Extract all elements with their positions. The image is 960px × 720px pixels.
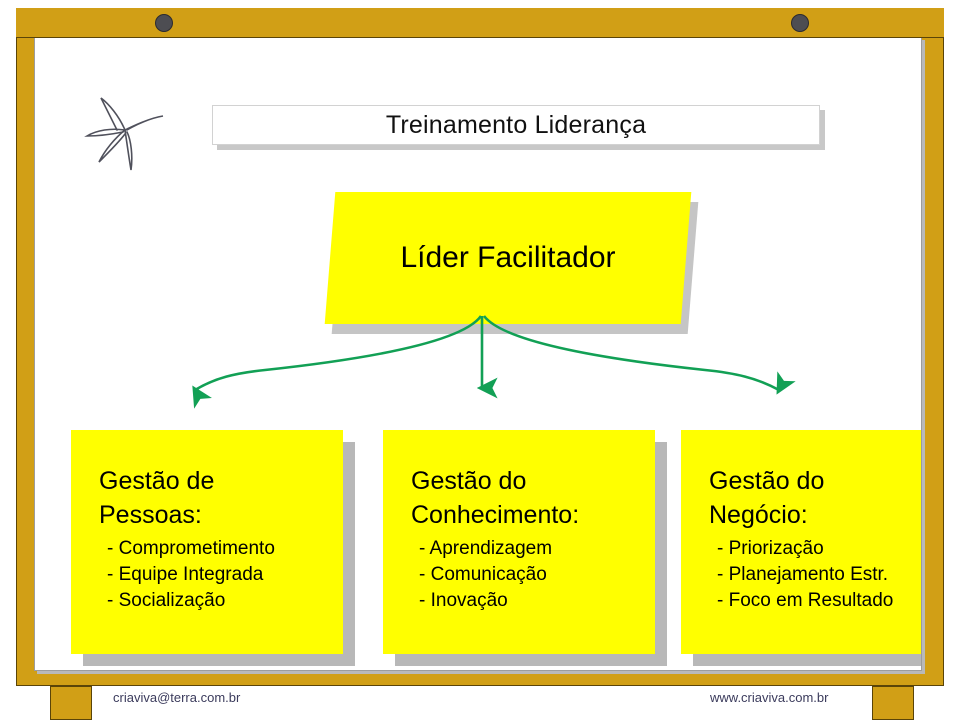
branch-note-3-content: Gestão do Negócio: - Priorização - Plane… bbox=[681, 430, 922, 654]
branch-note-2-content: Gestão do Conhecimento: - Aprendizagem -… bbox=[383, 430, 655, 654]
page-title: Treinamento Liderança bbox=[386, 111, 646, 140]
whiteboard-leg-left bbox=[50, 686, 92, 720]
branch-note-2-heading: Gestão do Conhecimento: bbox=[411, 464, 645, 532]
branch-note-1-items: - Comprometimento - Equipe Integrada - S… bbox=[99, 536, 333, 614]
branch-note-1-content: Gestão de Pessoas: - Comprometimento - E… bbox=[71, 430, 343, 654]
branch-note-1-heading: Gestão de Pessoas: bbox=[99, 464, 333, 532]
list-item: - Priorização bbox=[709, 536, 922, 562]
criaviva-star-sketch-icon bbox=[79, 86, 171, 178]
whiteboard-leg-right bbox=[872, 686, 914, 720]
list-item: - Comunicação bbox=[411, 562, 645, 588]
root-node-label: Líder Facilitador bbox=[330, 192, 686, 324]
list-item: - Equipe Integrada bbox=[99, 562, 333, 588]
branch-note-1: Gestão de Pessoas: - Comprometimento - E… bbox=[71, 430, 343, 654]
whiteboard-surface: Treinamento Liderança Líder Facilitador bbox=[34, 37, 922, 671]
list-item: - Planejamento Estr. bbox=[709, 562, 922, 588]
root-node: Líder Facilitador bbox=[323, 188, 713, 348]
branch-note-3-heading: Gestão do Negócio: bbox=[709, 464, 922, 532]
branch-note-2: Gestão do Conhecimento: - Aprendizagem -… bbox=[383, 430, 655, 654]
branch-note-2-items: - Aprendizagem - Comunicação - Inovação bbox=[411, 536, 645, 614]
screw-icon bbox=[155, 14, 173, 32]
list-item: - Socialização bbox=[99, 588, 333, 614]
footer-website[interactable]: www.criaviva.com.br bbox=[710, 690, 828, 705]
branch-note-3-items: - Priorização - Planejamento Estr. - Foc… bbox=[709, 536, 922, 614]
screw-icon bbox=[791, 14, 809, 32]
list-item: - Inovação bbox=[411, 588, 645, 614]
list-item: - Aprendizagem bbox=[411, 536, 645, 562]
slide-canvas: Treinamento Liderança Líder Facilitador bbox=[0, 0, 960, 720]
footer-email[interactable]: criaviva@terra.com.br bbox=[113, 690, 240, 705]
branch-note-3: Gestão do Negócio: - Priorização - Plane… bbox=[681, 430, 922, 654]
list-item: - Comprometimento bbox=[99, 536, 333, 562]
title-card: Treinamento Liderança bbox=[212, 105, 820, 145]
list-item: - Foco em Resultado bbox=[709, 588, 922, 614]
